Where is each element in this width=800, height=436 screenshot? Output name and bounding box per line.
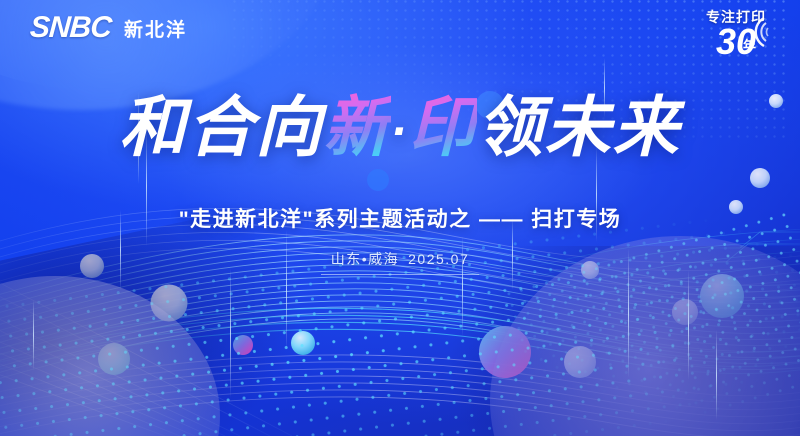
title-separator-dot: · [391,109,408,155]
event-banner: SNBC 新北洋 专注打印 30 年 和合向新·印领未来 "走进新北洋"系列主题… [0,0,800,436]
main-title: 和合向新·印领未来 [0,95,800,161]
logo-chinese-name: 新北洋 [124,15,187,42]
event-location: 山东•威海 [331,251,399,267]
title-part-2-gradient: 新 [323,89,391,166]
halftone-dots-right [501,207,800,436]
title-part-4-gradient: 印 [409,89,477,166]
event-date: 2025.07 [408,251,469,267]
bottom-left-violet-orb [0,276,220,436]
brand-logo[interactable]: SNBC 新北洋 [30,13,187,43]
anniversary-badge: 专注打印 30 年 [690,10,782,60]
title-part-1: 和合向 [119,89,323,166]
bottom-left-shadow [0,197,352,436]
dateline-inner: 山东•威海2025.07 [321,249,480,275]
logo-mark-text: SNBC [29,13,112,43]
event-dateline: 山东•威海2025.07 [0,249,800,275]
anniversary-swoosh-icon [734,12,774,52]
event-subtitle: "走进新北洋"系列主题活动之 —— 扫打专场 [0,203,800,233]
title-part-5: 领未来 [477,89,681,166]
